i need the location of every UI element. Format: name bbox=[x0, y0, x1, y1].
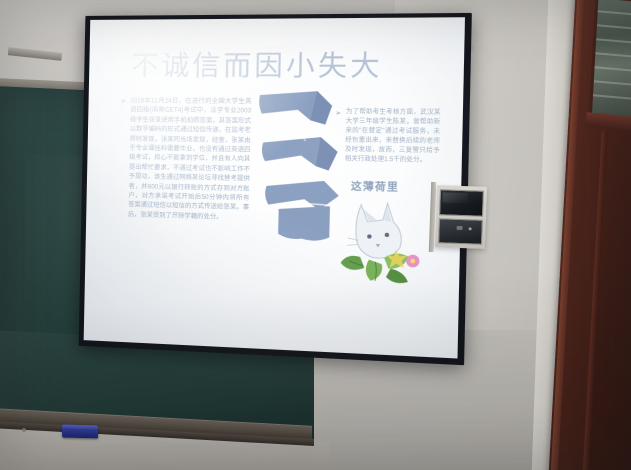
projection-screen[interactable]: 不诚信而因小失大 ➢ 2018年12月24日，在进行的全国大学生英语四级(简称C… bbox=[79, 13, 472, 365]
ledge-screw bbox=[22, 428, 26, 432]
left-column-body: 2018年12月24日，在进行的全国大学生英语四级(简称CET4)考试中，法学专… bbox=[128, 96, 252, 223]
door-glass-panel bbox=[589, 0, 631, 123]
blind-slat bbox=[594, 66, 631, 74]
display-glare bbox=[443, 192, 469, 202]
cabinet-knob[interactable] bbox=[457, 226, 463, 230]
cabinet-display-panel bbox=[439, 189, 484, 217]
cabinet-equipment-bay bbox=[438, 218, 483, 245]
cabinet-status-led-icon bbox=[469, 227, 472, 230]
classroom-photo-scene: 不诚信而因小失大 ➢ 2018年12月24日，在进行的全国大学生英语四级(简称C… bbox=[0, 0, 631, 470]
right-column-body: 为了帮助考生考核方面，武汉某大学三年级学生陈某，曾帮助新来的"在替定"通过考试服… bbox=[345, 108, 441, 166]
eraser-top-face bbox=[62, 425, 98, 430]
av-control-cabinet[interactable] bbox=[435, 185, 487, 249]
door-assembly[interactable] bbox=[540, 0, 631, 470]
bullet-marker-icon: ➢ bbox=[118, 96, 126, 219]
blind-slat bbox=[595, 52, 631, 60]
blind-slat bbox=[594, 80, 631, 88]
slide-left-text-column: ➢ 2018年12月24日，在进行的全国大学生英语四级(简称CET4)考试中，法… bbox=[118, 96, 252, 223]
powerpoint-slide: 不诚信而因小失大 ➢ 2018年12月24日，在进行的全国大学生英语四级(简称C… bbox=[84, 17, 465, 358]
slide-right-text-column: ➢ 为了帮助考生考核方面，武汉某大学三年级学生陈某，曾帮助新来的"在替定"通过考… bbox=[334, 108, 440, 166]
blind-slat bbox=[598, 10, 631, 18]
slide-emphasis-text: 这薄荷里 bbox=[351, 177, 399, 194]
screen-surface: 不诚信而因小失大 ➢ 2018年12月24日，在进行的全国大学生英语四级(简称C… bbox=[84, 17, 465, 358]
cat-with-leaves-illustration bbox=[327, 194, 427, 287]
blind-slat bbox=[597, 24, 631, 32]
blind-slat bbox=[593, 94, 631, 102]
blind-slat bbox=[596, 38, 631, 46]
board-eraser[interactable] bbox=[62, 425, 98, 439]
